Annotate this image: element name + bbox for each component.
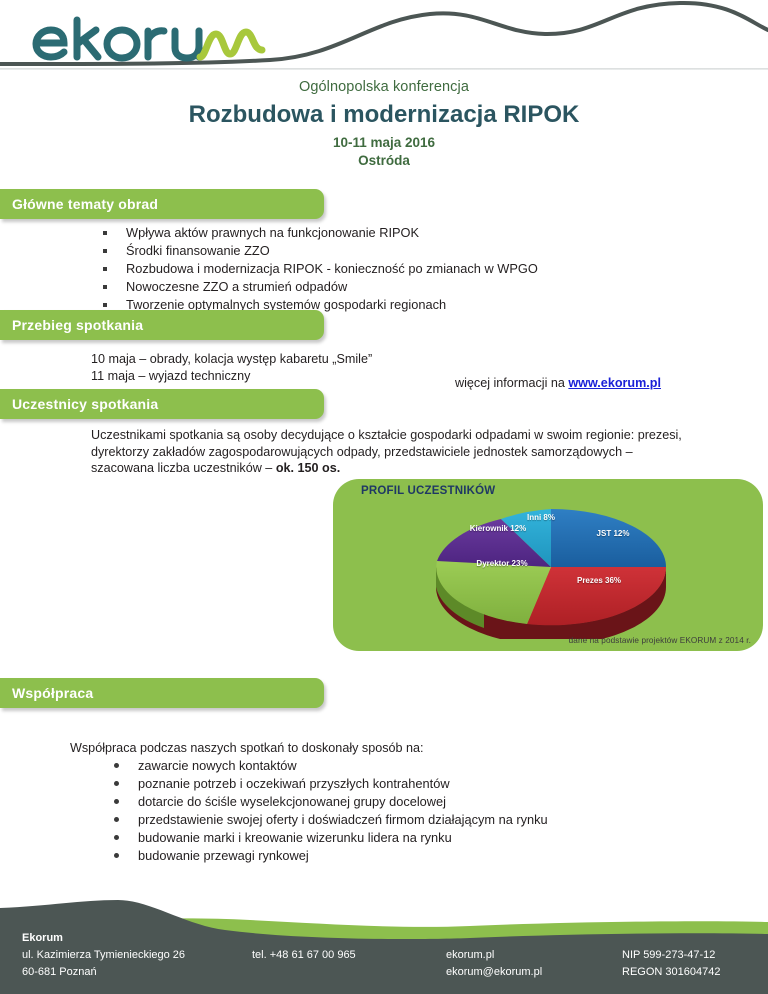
footer-website[interactable]: ekorum.pl — [446, 947, 542, 964]
list-item: Nowoczesne ZZO a strumień odpadów — [96, 278, 736, 296]
conference-date: 10-11 maja 2016 — [0, 134, 768, 152]
ekorum-logo[interactable] — [30, 12, 270, 64]
pie-label-jst: JST 12% — [591, 529, 635, 539]
footer-address-line-1: ul. Kazimierza Tymienieckiego 26 — [22, 947, 185, 964]
footer-address-line-2: 60-681 Poznań — [22, 964, 185, 981]
section-heading-topics-label: Główne tematy obrad — [0, 196, 158, 212]
more-info: więcej informacji na www.ekorum.pl — [455, 375, 755, 392]
section-heading-participants: Uczestnicy spotkania — [0, 389, 324, 419]
section-heading-agenda-label: Przebieg spotkania — [0, 317, 143, 333]
pie-label-kierownik: Kierownik 12% — [463, 524, 533, 534]
title-block: Ogólnopolska konferencja Rozbudowa i mod… — [0, 78, 768, 170]
section-heading-agenda: Przebieg spotkania — [0, 310, 324, 340]
pie-chart: JST 12% Prezes 36% Dyrektor 23% Kierowni… — [411, 491, 691, 639]
page-title: Rozbudowa i modernizacja RIPOK — [0, 99, 768, 131]
list-item: Wpływa aktów prawnych na funkcjonowanie … — [96, 224, 736, 242]
chart-source-note: dane na podstawie projektów EKORUM z 201… — [569, 636, 751, 645]
list-item: zawarcie nowych kontaktów — [108, 757, 748, 775]
page-footer: Ekorum ul. Kazimierza Tymienieckiego 26 … — [0, 894, 768, 994]
more-info-prefix: więcej informacji na — [455, 376, 568, 390]
list-item: budowanie marki i kreowanie wizerunku li… — [108, 829, 748, 847]
header-divider — [0, 68, 768, 70]
list-item: poznanie potrzeb i oczekiwań przyszłych … — [108, 775, 748, 793]
conference-city: Ostróda — [0, 152, 768, 170]
ekorum-website-link[interactable]: www.ekorum.pl — [568, 376, 661, 390]
list-item: przedstawienie swojej oferty i doświadcz… — [108, 811, 748, 829]
document-page: Ogólnopolska konferencja Rozbudowa i mod… — [0, 0, 768, 994]
participants-count: ok. 150 os. — [276, 461, 340, 475]
list-item: dotarcie do ściśle wyselekcjonowanej gru… — [108, 793, 748, 811]
section-heading-cooperation-label: Współpraca — [0, 685, 93, 701]
conference-eyebrow: Ogólnopolska konferencja — [0, 78, 768, 96]
section-heading-participants-label: Uczestnicy spotkania — [0, 396, 158, 412]
participants-paragraph: Uczestnikami spotkania są osoby decydują… — [91, 427, 691, 477]
list-item: Rozbudowa i modernizacja RIPOK - koniecz… — [96, 260, 736, 278]
participants-profile-chart: PROFIL UCZESTNIKÓW — [333, 479, 763, 651]
cooperation-list: zawarcie nowych kontaktów poznanie potrz… — [108, 757, 748, 865]
section-heading-topics: Główne tematy obrad — [0, 189, 324, 219]
pie-label-dyrektor: Dyrektor 23% — [471, 559, 533, 569]
footer-regon: REGON 301604742 — [622, 964, 720, 981]
footer-phone[interactable]: tel. +48 61 67 00 965 — [252, 947, 356, 964]
topics-list: Wpływa aktów prawnych na funkcjonowanie … — [96, 224, 736, 314]
list-item: Środki finansowanie ZZO — [96, 242, 736, 260]
pie-label-prezes: Prezes 36% — [571, 576, 627, 586]
cooperation-intro-text: Współpraca podczas naszych spotkań to do… — [70, 741, 424, 755]
pie-label-inni: Inni 8% — [523, 513, 559, 523]
page-header — [0, 0, 768, 70]
footer-nip: NIP 599-273-47-12 — [622, 947, 720, 964]
participants-paragraph-text: Uczestnikami spotkania są osoby decydują… — [91, 428, 682, 475]
list-item: budowanie przewagi rynkowej — [108, 847, 748, 865]
agenda-day-1: 10 maja – obrady, kolacja występ kabaret… — [91, 351, 591, 368]
cooperation-intro: Współpraca podczas naszych spotkań to do… — [70, 740, 730, 757]
section-heading-cooperation: Współpraca — [0, 678, 324, 708]
footer-email[interactable]: ekorum@ekorum.pl — [446, 964, 542, 981]
footer-company: Ekorum — [22, 930, 185, 947]
